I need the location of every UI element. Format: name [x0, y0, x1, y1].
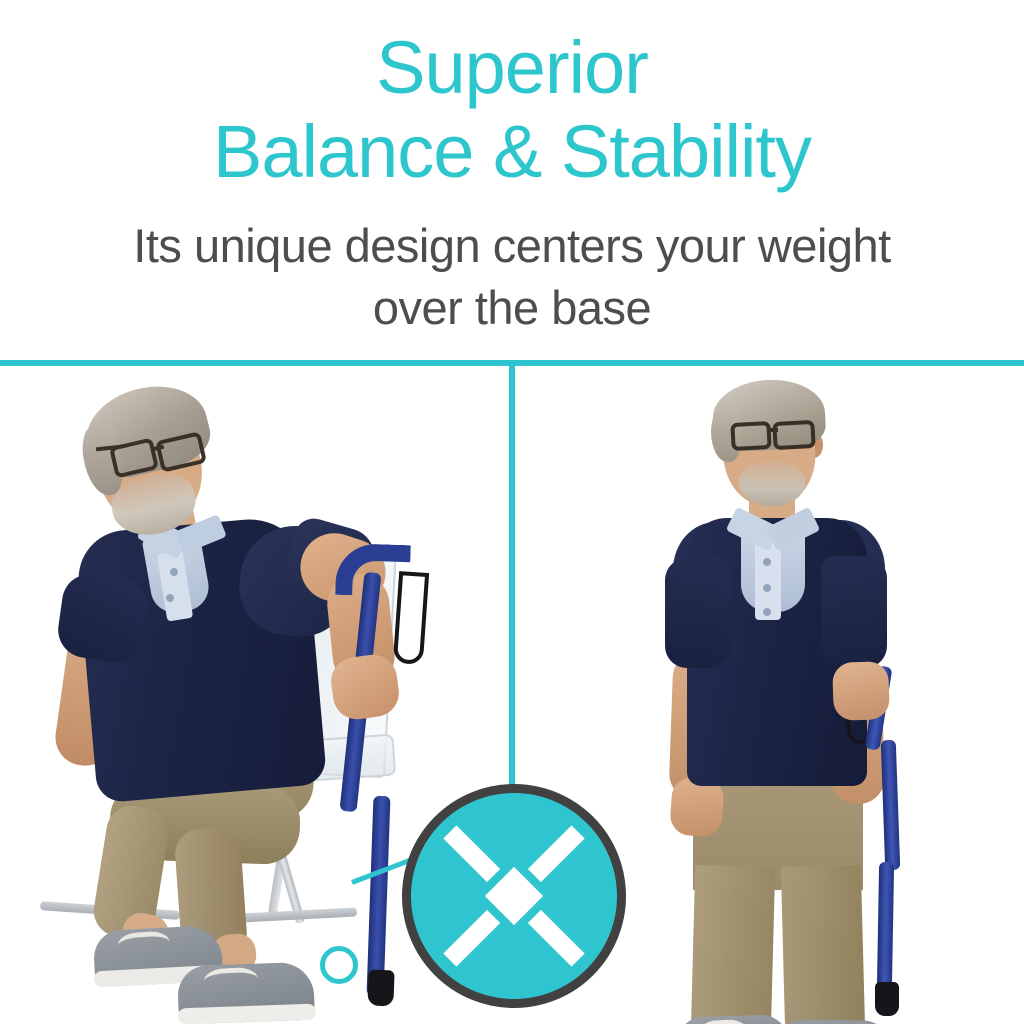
right-figure-sneaker-right: [777, 1019, 892, 1024]
left-cane-lower-shaft: [367, 796, 391, 996]
center-of-gravity-badge[interactable]: [402, 784, 626, 1008]
right-figure-right-sleeve: [821, 556, 887, 668]
header-block: Superior Balance & Stability Its unique …: [0, 0, 1024, 363]
left-figure-shoelaces-far: [203, 967, 258, 1000]
right-figure-left-sleeve: [665, 558, 731, 668]
left-figure-left-sleeve: [55, 570, 152, 665]
right-figure-right-trouser-leg: [781, 865, 865, 1024]
arrows-converging-to-center-icon: [411, 793, 617, 999]
subhead-line-1: Its unique design centers your weight: [133, 219, 890, 272]
headline-line-2: Balance & Stability: [0, 110, 1024, 194]
left-figure-sneaker-sole-far: [178, 1004, 316, 1024]
marketing-image-canvas: Superior Balance & Stability Its unique …: [0, 0, 1024, 1024]
right-figure-left-trouser-leg: [691, 865, 775, 1024]
left-figure-shoelaces-near: [117, 930, 171, 964]
headline-line-1: Superior: [376, 26, 648, 109]
left-figure-right-hand: [328, 652, 402, 723]
right-cane-lower-shaft: [877, 862, 894, 992]
right-figure-beard: [739, 462, 805, 506]
subhead-line-2: over the base: [0, 277, 1024, 339]
left-cane-wrist-strap: [393, 571, 429, 665]
right-figure-eyeglass-lens-right: [772, 420, 815, 450]
callout-highlight-ring: [320, 946, 358, 984]
right-cane-rubber-tip: [875, 982, 899, 1016]
right-figure-right-hand: [832, 661, 890, 721]
page-title: Superior Balance & Stability: [0, 26, 1024, 194]
left-cane-rubber-tip: [367, 970, 394, 1007]
right-figure-shirt-button-1: [763, 558, 771, 566]
page-subtitle: Its unique design centers your weight ov…: [0, 215, 1024, 339]
right-cane-mid-shaft: [881, 740, 901, 870]
right-figure-shirt-button-2: [763, 584, 771, 592]
right-figure-eyeglass-bridge: [768, 428, 778, 432]
right-figure-eyeglass-lens-left: [730, 421, 771, 451]
right-figure-shirt-button-3: [763, 608, 771, 616]
